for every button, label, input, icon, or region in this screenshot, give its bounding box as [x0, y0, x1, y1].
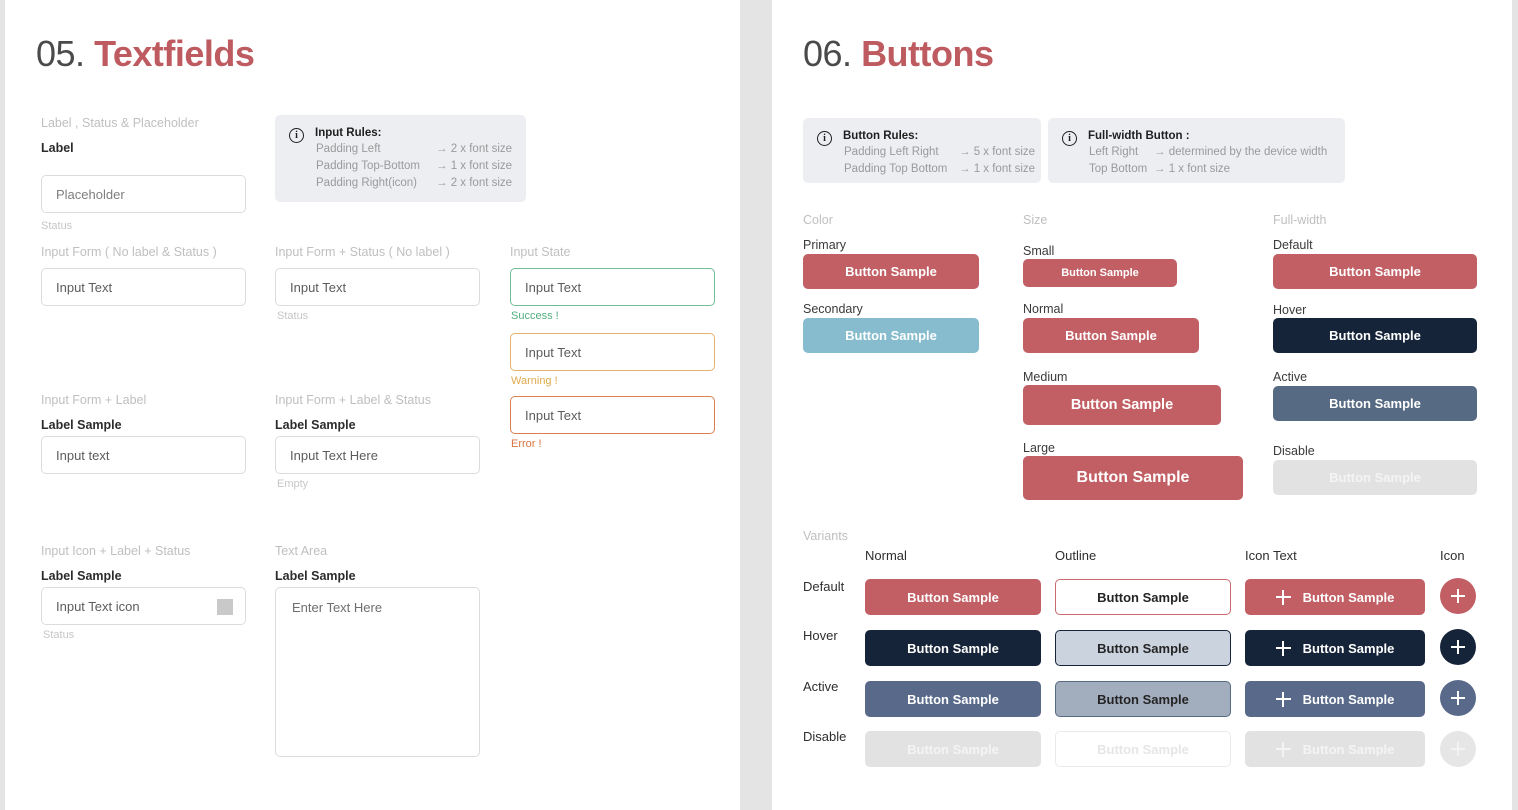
variants-row-active: Active	[803, 679, 838, 694]
plus-icon	[1451, 691, 1465, 705]
input-form-label-status[interactable]: Input Text Here	[275, 436, 480, 474]
info-circle-icon: i	[817, 131, 832, 146]
plus-icon	[1451, 589, 1465, 603]
variant-icontext-active[interactable]: Button Sample	[1245, 681, 1425, 717]
message-success: Success !	[511, 310, 559, 322]
label-small: Small	[1023, 244, 1054, 258]
panel-textfields: 05. Textfields i Input Rules: Padding Le…	[5, 0, 740, 810]
button-size-large[interactable]: Button Sample	[1023, 456, 1243, 500]
fullwidth-rules-heading: Full-width Button :	[1088, 130, 1190, 142]
label-fullwidth-disable: Disable	[1273, 444, 1315, 458]
plus-icon	[1276, 590, 1291, 605]
plus-icon	[1451, 742, 1465, 756]
message-warning: Warning !	[511, 375, 558, 387]
button-size-medium[interactable]: Button Sample	[1023, 385, 1221, 425]
info-circle-icon: i	[1062, 131, 1077, 146]
status-text-placeholder: Status	[41, 220, 72, 232]
variant-icon-active[interactable]	[1440, 680, 1476, 716]
input-state-warning[interactable]: Input Text	[510, 333, 715, 371]
page-title-word: Buttons	[861, 33, 993, 74]
variant-icontext-label: Button Sample	[1303, 742, 1395, 757]
button-fullwidth-active[interactable]: Button Sample	[1273, 386, 1477, 421]
caption-input-state: Input State	[510, 245, 570, 259]
text-area-input[interactable]: Enter Text Here	[275, 587, 480, 757]
label-secondary: Secondary	[803, 302, 863, 316]
caption-icon-label-status: Input Icon + Label + Status	[41, 544, 190, 558]
rule-value: → 5 x font size	[959, 146, 1035, 158]
input-value: Input Text	[525, 280, 581, 295]
placeholder-input-value: Placeholder	[56, 187, 125, 202]
page-title-buttons: 06. Buttons	[803, 33, 994, 75]
label-text-area: Label Sample	[275, 569, 356, 583]
input-value: Input Text	[525, 408, 581, 423]
rule-key: Padding Right(icon)	[316, 177, 436, 189]
variants-row-default: Default	[803, 579, 844, 594]
input-no-label-status[interactable]: Input Text	[41, 268, 246, 306]
rule-value: → 1 x font size	[1154, 163, 1230, 175]
fullwidth-rules-row: Left Right→ determined by the device wid…	[1089, 146, 1327, 158]
input-rules-row: Padding Top-Bottom→ 1 x font size	[316, 160, 512, 172]
label-primary: Primary	[803, 238, 846, 252]
variants-col-icon: Icon	[1440, 548, 1465, 563]
caption-color: Color	[803, 213, 833, 227]
caption-variants: Variants	[803, 529, 848, 543]
variant-icontext-label: Button Sample	[1303, 692, 1395, 707]
variants-col-outline: Outline	[1055, 548, 1096, 563]
variants-col-normal: Normal	[865, 548, 907, 563]
input-value: Input text	[56, 448, 109, 463]
label-fullwidth-default: Default	[1273, 238, 1313, 252]
variant-icontext-hover[interactable]: Button Sample	[1245, 630, 1425, 666]
fullwidth-rules-row: Top Bottom→ 1 x font size	[1089, 163, 1230, 175]
variant-normal-active[interactable]: Button Sample	[865, 681, 1041, 717]
variant-normal-default[interactable]: Button Sample	[865, 579, 1041, 615]
input-value: Input Text	[56, 280, 112, 295]
button-rules-row: Padding Top Bottom→ 1 x font size	[844, 163, 1035, 175]
input-form-label[interactable]: Input text	[41, 436, 246, 474]
rule-value: → 2 x font size	[436, 143, 512, 155]
rule-key: Top Bottom	[1089, 163, 1154, 175]
message-error: Error !	[511, 438, 542, 450]
status-text-icon-field: Status	[43, 629, 74, 641]
label-icon-field: Label Sample	[41, 569, 122, 583]
caption-form-label-status: Input Form + Label & Status	[275, 393, 431, 407]
info-circle-icon: i	[289, 128, 304, 143]
input-rules-row: Padding Left→ 2 x font size	[316, 143, 512, 155]
button-secondary[interactable]: Button Sample	[803, 318, 979, 353]
rule-key: Padding Left Right	[844, 146, 959, 158]
caption-fullwidth: Full-width	[1273, 213, 1327, 227]
input-state-success[interactable]: Input Text	[510, 268, 715, 306]
square-icon[interactable]	[217, 599, 233, 615]
label-fullwidth-active: Active	[1273, 370, 1307, 384]
button-primary[interactable]: Button Sample	[803, 254, 979, 289]
variant-icontext-default[interactable]: Button Sample	[1245, 579, 1425, 615]
variant-icon-hover[interactable]	[1440, 629, 1476, 665]
rule-value: → 2 x font size	[436, 177, 512, 189]
text-area-placeholder: Enter Text Here	[292, 600, 382, 615]
label-medium: Medium	[1023, 370, 1067, 384]
caption-status-no-label: Input Form + Status ( No label )	[275, 245, 450, 259]
plus-icon	[1276, 742, 1291, 757]
variant-outline-hover[interactable]: Button Sample	[1055, 630, 1231, 666]
input-value: Input Text Here	[290, 448, 378, 463]
label-fullwidth-hover: Hover	[1273, 303, 1306, 317]
button-size-normal[interactable]: Button Sample	[1023, 318, 1199, 353]
variants-row-disable: Disable	[803, 729, 846, 744]
input-value: Input Text	[290, 280, 346, 295]
caption-no-label-status: Input Form ( No label & Status )	[41, 245, 217, 259]
variant-icontext-label: Button Sample	[1303, 590, 1395, 605]
variants-row-hover: Hover	[803, 628, 838, 643]
input-status-no-label[interactable]: Input Text	[275, 268, 480, 306]
fullwidth-rules-card: i Full-width Button : Left Right→ determ…	[1048, 118, 1345, 183]
plus-icon	[1451, 640, 1465, 654]
variants-col-icontext: Icon Text	[1245, 548, 1297, 563]
design-system-board: 05. Textfields i Input Rules: Padding Le…	[0, 0, 1518, 810]
panel-buttons: 06. Buttons i Button Rules: Padding Left…	[772, 0, 1512, 810]
variant-outline-active[interactable]: Button Sample	[1055, 681, 1231, 717]
label-placeholder-field: Label	[41, 141, 74, 155]
rule-key: Padding Top Bottom	[844, 163, 959, 175]
label-form-label: Label Sample	[41, 418, 122, 432]
caption-form-label: Input Form + Label	[41, 393, 146, 407]
caption-label-status-placeholder: Label , Status & Placeholder	[41, 116, 199, 130]
input-state-error[interactable]: Input Text	[510, 396, 715, 434]
variant-normal-hover[interactable]: Button Sample	[865, 630, 1041, 666]
caption-text-area: Text Area	[275, 544, 327, 558]
caption-size: Size	[1023, 213, 1047, 227]
rule-value: → determined by the device width	[1154, 146, 1327, 158]
input-with-icon[interactable]: Input Text icon	[41, 587, 246, 625]
rule-key: Padding Left	[316, 143, 436, 155]
rule-key: Padding Top-Bottom	[316, 160, 436, 172]
button-fullwidth-hover[interactable]: Button Sample	[1273, 318, 1477, 353]
input-rules-card: i Input Rules: Padding Left→ 2 x font si…	[275, 115, 526, 202]
button-fullwidth-disable[interactable]: Button Sample	[1273, 460, 1477, 495]
rule-value: → 1 x font size	[436, 160, 512, 172]
label-form-label-status: Label Sample	[275, 418, 356, 432]
placeholder-input[interactable]: Placeholder	[41, 175, 246, 213]
button-size-small[interactable]: Button Sample	[1023, 259, 1177, 287]
variant-icon-default[interactable]	[1440, 578, 1476, 614]
rule-value: → 1 x font size	[959, 163, 1035, 175]
button-rules-card: i Button Rules: Padding Left Right→ 5 x …	[803, 118, 1041, 183]
variant-outline-default[interactable]: Button Sample	[1055, 579, 1231, 615]
label-normal: Normal	[1023, 302, 1063, 316]
page-title-word: Textfields	[94, 33, 254, 74]
page-title-textfields: 05. Textfields	[36, 33, 254, 75]
variant-icontext-label: Button Sample	[1303, 641, 1395, 656]
label-large: Large	[1023, 441, 1055, 455]
input-rules-row: Padding Right(icon)→ 2 x font size	[316, 177, 512, 189]
button-fullwidth-default[interactable]: Button Sample	[1273, 254, 1477, 289]
plus-icon	[1276, 692, 1291, 707]
page-title-number: 05.	[36, 33, 85, 74]
status-text-empty: Empty	[277, 478, 308, 490]
input-value: Input Text icon	[56, 599, 140, 614]
variant-normal-disable[interactable]: Button Sample	[865, 731, 1041, 767]
rule-key: Left Right	[1089, 146, 1154, 158]
button-rules-row: Padding Left Right→ 5 x font size	[844, 146, 1035, 158]
button-rules-heading: Button Rules:	[843, 130, 918, 142]
input-rules-heading: Input Rules:	[315, 127, 381, 139]
variant-icon-disable[interactable]	[1440, 731, 1476, 767]
status-text-no-label: Status	[277, 310, 308, 322]
page-title-number: 06.	[803, 33, 852, 74]
variant-icontext-disable[interactable]: Button Sample	[1245, 731, 1425, 767]
variant-outline-disable[interactable]: Button Sample	[1055, 731, 1231, 767]
input-value: Input Text	[525, 345, 581, 360]
plus-icon	[1276, 641, 1291, 656]
